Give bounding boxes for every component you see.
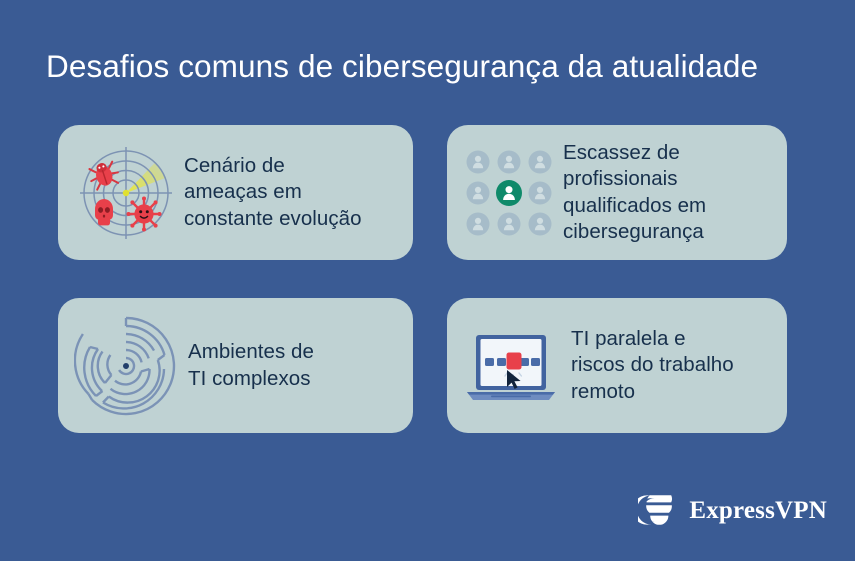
card-text-line: Ambientes de [188, 339, 314, 366]
brand-name: ExpressVPN [689, 498, 827, 523]
challenge-card-talent-shortage: Escassez de profissionais qualificados e… [447, 125, 787, 260]
card-text-line: Escassez de [563, 140, 706, 167]
card-text-line: Cenário de [184, 153, 362, 180]
card-text-line: cibersegurança [563, 219, 706, 246]
people-grid-icon [463, 147, 555, 239]
card-text-line: ameaças em [184, 179, 362, 206]
slide-canvas: Desafios comuns de cibersegurança da atu… [0, 0, 855, 561]
challenge-card-text: Cenário de ameaças em constante evolução [184, 153, 362, 233]
person-badge-row [467, 212, 552, 235]
card-text-line: TI complexos [188, 366, 314, 393]
challenge-card-evolving-threats: Cenário de ameaças em constante evolução [58, 125, 413, 260]
challenge-card-text: Ambientes de TI complexos [188, 339, 314, 392]
card-text-line: riscos do trabalho [571, 352, 734, 379]
card-text-line: profissionais [563, 166, 706, 193]
challenge-card-shadow-it: TI paralela e riscos do trabalho remoto [447, 298, 787, 433]
card-text-line: constante evolução [184, 206, 362, 233]
laptop-cursor-icon [463, 326, 559, 406]
page-title: Desafios comuns de cibersegurança da atu… [46, 46, 826, 86]
person-badge-row [467, 180, 552, 206]
card-text-line: qualificados em [563, 193, 706, 220]
card-text-line: remoto [571, 379, 734, 406]
card-text-line: TI paralela e [571, 326, 734, 353]
circular-maze-icon [74, 314, 178, 418]
person-badge-row [467, 150, 552, 173]
challenge-card-text: Escassez de profissionais qualificados e… [563, 140, 706, 246]
brand-lockup: ExpressVPN [638, 493, 827, 527]
person-badge-highlighted [496, 180, 522, 206]
challenge-card-grid: Cenário de ameaças em constante evolução [58, 125, 788, 433]
challenge-card-complex-it: Ambientes de TI complexos [58, 298, 413, 433]
virus-threat-glyph [127, 196, 162, 231]
challenge-card-text: TI paralela e riscos do trabalho remoto [571, 326, 734, 406]
radar-threats-icon [74, 141, 178, 245]
app-block-risky [507, 352, 522, 369]
expressvpn-logo-icon [638, 493, 680, 527]
